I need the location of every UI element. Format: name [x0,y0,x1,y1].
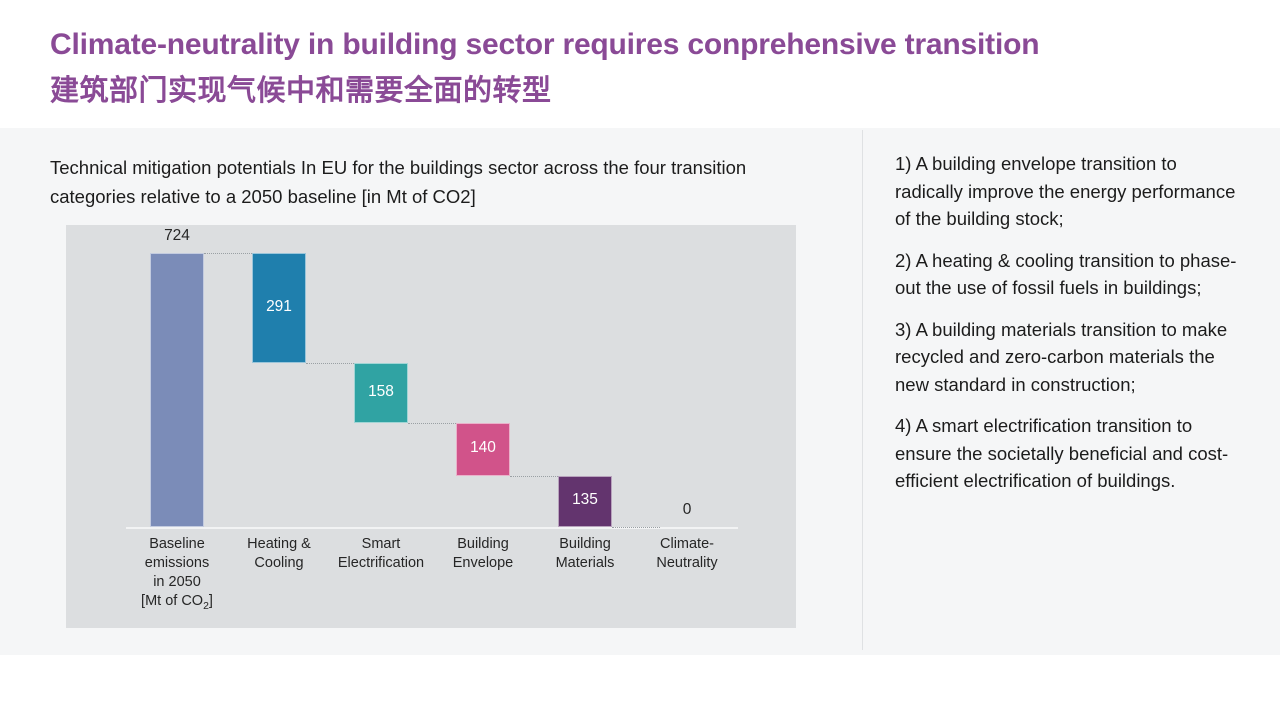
chart-bar [150,253,204,527]
chart-category-label: SmartElectrification [324,535,438,573]
slide-footer: Source: Based on ECF (2020): Zero Carbon… [0,655,1280,720]
slide-header: Climate-neutrality in building sector re… [0,0,1280,128]
bullet-item-4: 4) A smart electrification transition to… [895,412,1240,495]
page-title-zh: 建筑部门实现气候中和需要全面的转型 [50,67,552,109]
chart-connector-line [408,423,456,424]
chart-plot-area: 7242911581401350 Baselineemissionsin 205… [66,225,796,628]
bullet-item-1: 1) A building envelope transition to rad… [895,150,1240,233]
chart-bar-value-label: 135 [534,491,636,509]
chart-connector-line [612,527,660,528]
waterfall-chart-panel: 7242911581401350 Baselineemissionsin 205… [66,225,796,628]
chart-connector-line [510,476,558,477]
chart-bar-value-label: 140 [432,439,534,457]
chart-category-label: Climate-Neutrality [630,535,744,573]
chart-bar-value-label: 158 [330,383,432,401]
transition-bullet-list: 1) A building envelope transition to rad… [895,150,1240,509]
chart-connector-line [306,363,354,364]
chart-bar-value-label: 724 [126,227,228,245]
bullet-item-3: 3) A building materials transition to ma… [895,316,1240,399]
chart-category-label: BuildingMaterials [528,535,642,573]
chart-bar-value-label: 0 [636,501,738,519]
chart-category-label: Heating &Cooling [222,535,336,573]
chart-bar-value-label: 291 [228,298,330,316]
chart-subtitle: Technical mitigation potentials In EU fo… [50,153,810,211]
slide: Climate-neutrality in building sector re… [0,0,1280,720]
page-title-en: Climate-neutrality in building sector re… [50,28,1039,62]
chart-category-label: Baselineemissionsin 2050[Mt of CO2] [120,535,234,616]
column-divider [862,130,863,650]
chart-connector-line [204,253,252,254]
chart-category-label: BuildingEnvelope [426,535,540,573]
bullet-item-2: 2) A heating & cooling transition to pha… [895,247,1240,302]
